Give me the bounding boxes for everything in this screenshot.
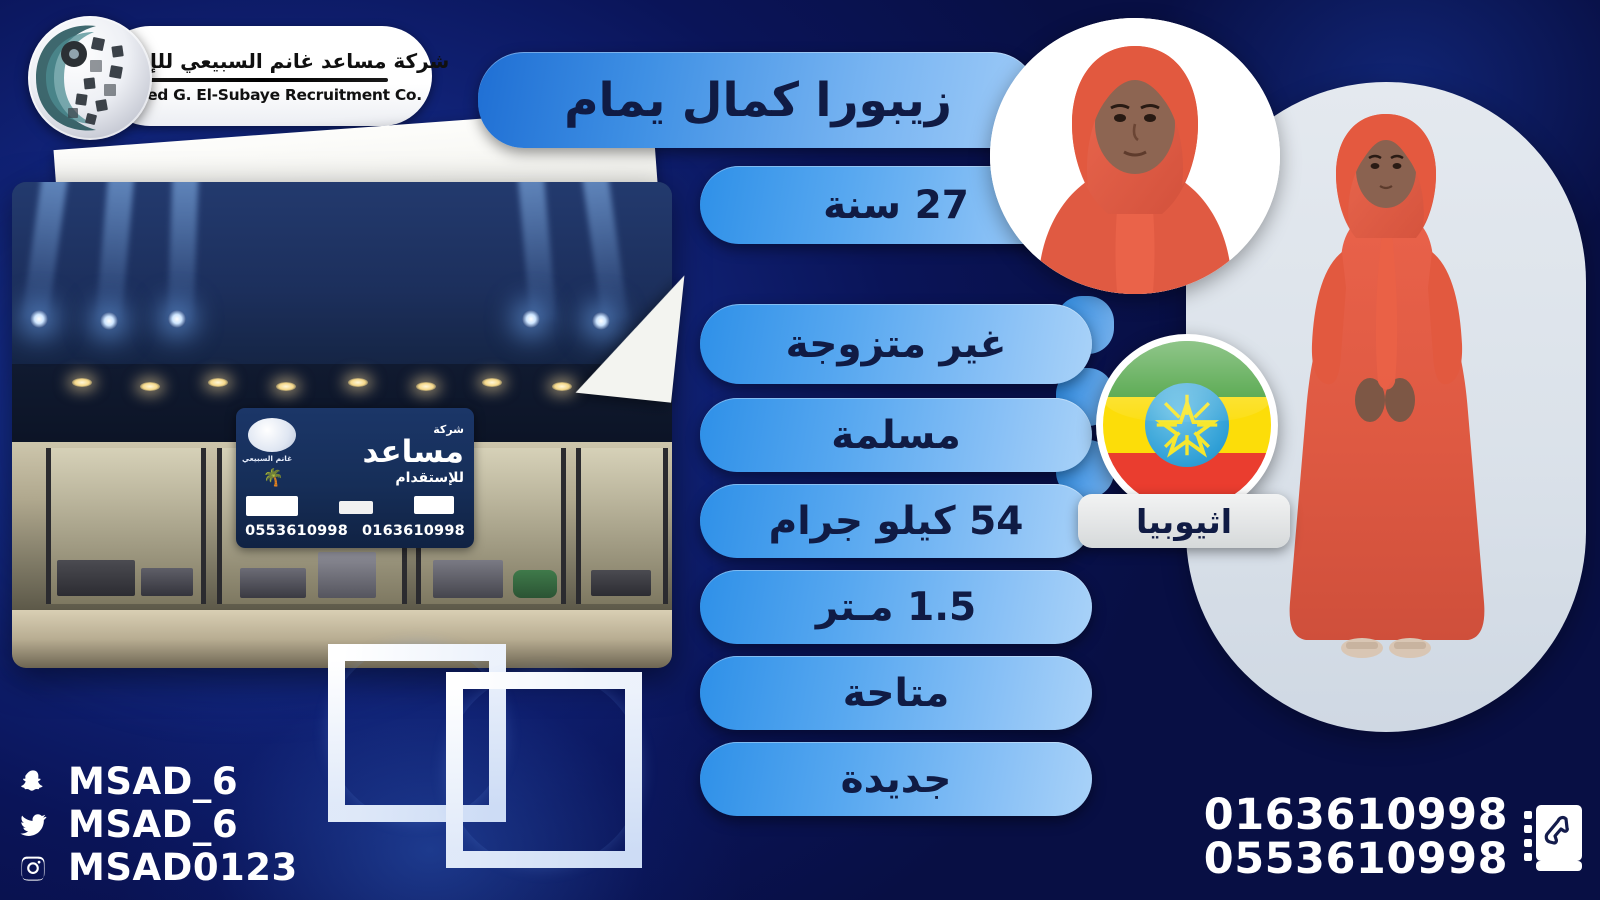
- contact-phones[interactable]: 0163610998 0553610998: [1204, 794, 1584, 882]
- twitter-icon[interactable]: [16, 808, 50, 842]
- phonebook-icon: [1522, 803, 1584, 873]
- social-row-twitter[interactable]: MSAD_6: [16, 806, 298, 843]
- social-row-instagram[interactable]: MSAD0123: [16, 849, 298, 886]
- signboard-phone-right: 0163610998: [362, 523, 465, 539]
- signboard-line-large: مساعد: [363, 436, 464, 469]
- office-storefront-photo: شركة مساعد للإستقدام غانم السبيعي 🌴 0553…: [12, 182, 672, 668]
- phone-number-1[interactable]: 0163610998: [1204, 794, 1508, 838]
- social-row-snapchat[interactable]: MSAD_6: [16, 763, 298, 800]
- poster-canvas: شركة مساعد غانم السبيعي للإستقدام Musaed…: [0, 0, 1600, 900]
- signboard-phone-left: 0553610998: [245, 523, 348, 539]
- floor-band: [12, 610, 672, 668]
- instagram-icon[interactable]: [16, 851, 50, 885]
- candidate-portrait-photo: [990, 18, 1280, 294]
- signboard-placard: [246, 496, 298, 516]
- candidate-marital-status-pill: غير متزوجة: [700, 304, 1092, 384]
- company-logo: شركة مساعد غانم السبيعي للإستقدام Musaed…: [18, 14, 438, 136]
- flag-star-emblem: [1145, 383, 1229, 467]
- page-curl-decoration: [576, 265, 685, 402]
- candidate-height-pill: 1.5 مـتر: [700, 570, 1092, 644]
- signboard-placard: [339, 501, 373, 514]
- snapchat-icon[interactable]: [16, 765, 50, 799]
- candidate-availability-pill: متاحة: [700, 656, 1092, 730]
- candidate-country-pill: اثيوبيا: [1078, 494, 1290, 548]
- candidate-name-pill: زيبورا كمال يمام: [478, 52, 1038, 148]
- office-signboard: شركة مساعد للإستقدام غانم السبيعي 🌴 0553…: [236, 408, 474, 548]
- signboard-line-medium: للإستقدام: [363, 470, 464, 486]
- logo-divider: [136, 78, 388, 82]
- glass-pane: [576, 448, 668, 604]
- candidate-weight-pill: 54 كيلو جرام: [700, 484, 1092, 558]
- flag-disc: [1103, 341, 1271, 509]
- phone-number-2[interactable]: 0553610998: [1204, 838, 1508, 882]
- instagram-handle[interactable]: MSAD0123: [68, 849, 298, 886]
- signboard-logo-icon: [248, 418, 296, 452]
- snapchat-handle[interactable]: MSAD_6: [68, 763, 238, 800]
- ethiopia-flag-icon: [1096, 334, 1278, 516]
- globe-swoosh-logo-icon: [28, 16, 152, 140]
- social-handles: MSAD_6 MSAD_6 MSAD0123: [16, 763, 298, 886]
- glass-pane: [46, 448, 206, 604]
- candidate-condition-pill: جديدة: [700, 742, 1092, 816]
- candidate-religion-pill: مسلمة: [700, 398, 1092, 472]
- signboard-placard: [414, 496, 454, 514]
- twitter-handle[interactable]: MSAD_6: [68, 806, 238, 843]
- palm-emblem-icon: 🌴: [262, 470, 284, 492]
- signboard-text: شركة مساعد للإستقدام: [363, 424, 464, 486]
- signboard-phones: 0553610998 0163610998: [236, 523, 474, 539]
- signboard-logo-caption: غانم السبيعي: [242, 454, 292, 463]
- decorative-ring: [446, 672, 642, 868]
- phone-number-list: 0163610998 0553610998: [1204, 794, 1508, 882]
- office-photo-body: شركة مساعد للإستقدام غانم السبيعي 🌴 0553…: [12, 182, 672, 668]
